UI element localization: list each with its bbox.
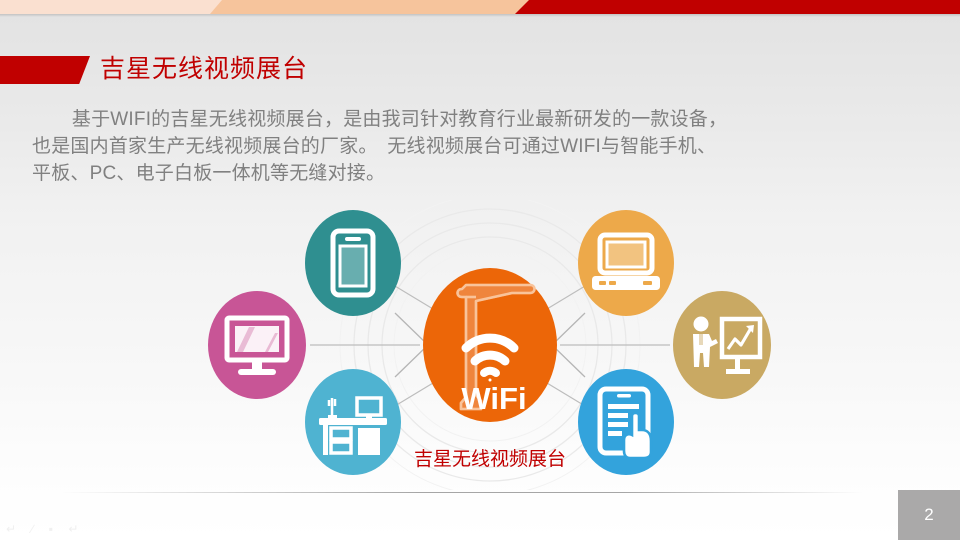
node-desk[interactable]: [305, 369, 401, 475]
node-tablet-touch[interactable]: [578, 369, 674, 475]
center-wifi-label: WiFi: [461, 381, 526, 416]
page-number-badge: 2: [898, 490, 960, 540]
center-node[interactable]: WiFi: [423, 268, 557, 422]
topbar-segment-peach-mid: [210, 0, 540, 14]
node-smartphone[interactable]: [305, 210, 401, 316]
topbar-shadow: [0, 14, 960, 17]
node-monitor[interactable]: [208, 291, 306, 399]
body-paragraph: 基于WIFI的吉星无线视频展台，是由我司针对教育行业最新研发的一款设备， 也是国…: [32, 106, 932, 187]
top-decorative-bar: [0, 0, 960, 14]
page-title: 吉星无线视频展台: [100, 51, 308, 87]
slide: 吉星无线视频展台 基于WIFI的吉星无线视频展台，是由我司针对教育行业最新研发的…: [0, 0, 960, 540]
node-laptop[interactable]: [578, 210, 674, 316]
footer-divider: [62, 492, 862, 493]
body-line-2: 也是国内首家生产无线视频展台的厂家。 无线视频展台可通过WIFI与智能手机、: [32, 133, 932, 160]
center-caption: 吉星无线视频展台: [414, 448, 566, 470]
body-line-3: 平板、PC、电子白板一体机等无缝对接。: [32, 160, 932, 187]
title-row: 吉星无线视频展台: [0, 53, 960, 89]
corner-watermark-marks: ↵ ∕ ▪ ↵: [6, 522, 84, 536]
body-line-1: 基于WIFI的吉星无线视频展台，是由我司针对教育行业最新研发的一款设备，: [32, 106, 932, 133]
topbar-segment-peach-light: [0, 0, 232, 14]
title-marker-parallelogram: [0, 56, 90, 84]
node-presenter-board[interactable]: [673, 291, 771, 399]
hub-and-spoke-diagram: WiFi 吉星无线视频展台: [170, 200, 810, 490]
laptop-icon: [592, 235, 660, 290]
topbar-segment-red-dark: [515, 0, 960, 14]
